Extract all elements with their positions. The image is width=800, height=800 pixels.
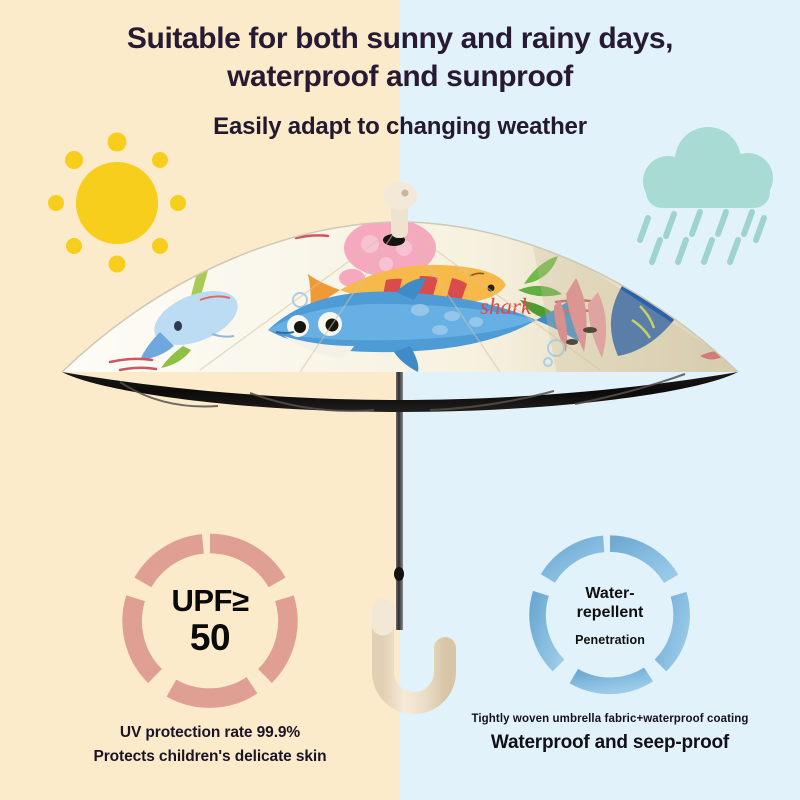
headline-line-2: waterproof and sunproof bbox=[0, 58, 800, 96]
upf-label: UPF≥ bbox=[171, 585, 248, 617]
water-title-line2: repellent bbox=[577, 604, 644, 621]
water-ring-center: Water- repellent Penetration bbox=[527, 532, 693, 698]
uv-ring-center: UPF≥ 50 bbox=[121, 532, 299, 710]
uv-caption-primary: UV protection rate 99.9% bbox=[40, 724, 380, 742]
rain-cloud-icon bbox=[630, 118, 795, 273]
feature-water-repellent: Water- repellent Penetration Tightly wov… bbox=[432, 532, 788, 754]
water-caption-big: Waterproof and seep-proof bbox=[432, 732, 788, 754]
water-ring-badge: Water- repellent Penetration bbox=[527, 532, 693, 698]
subheadline: Easily adapt to changing weather bbox=[0, 113, 800, 141]
headline-block: Suitable for both sunny and rainy days, … bbox=[0, 20, 800, 141]
upf-value: 50 bbox=[190, 619, 230, 657]
headline-line-1: Suitable for both sunny and rainy days, bbox=[0, 20, 800, 58]
water-repellent-title: Water- repellent bbox=[577, 584, 644, 622]
water-penetration-label: Penetration bbox=[575, 633, 645, 647]
product-marketing-banner: shark bbox=[0, 0, 800, 800]
water-caption-small: Tightly woven umbrella fabric+waterproof… bbox=[432, 713, 788, 725]
uv-ring-badge: UPF≥ 50 bbox=[121, 532, 299, 710]
sun-icon bbox=[32, 118, 202, 288]
water-title-line1: Water- bbox=[585, 585, 634, 602]
uv-caption-secondary: Protects children's delicate skin bbox=[40, 748, 380, 766]
feature-uv-protection: UPF≥ 50 UV protection rate 99.9% Protect… bbox=[40, 532, 380, 766]
